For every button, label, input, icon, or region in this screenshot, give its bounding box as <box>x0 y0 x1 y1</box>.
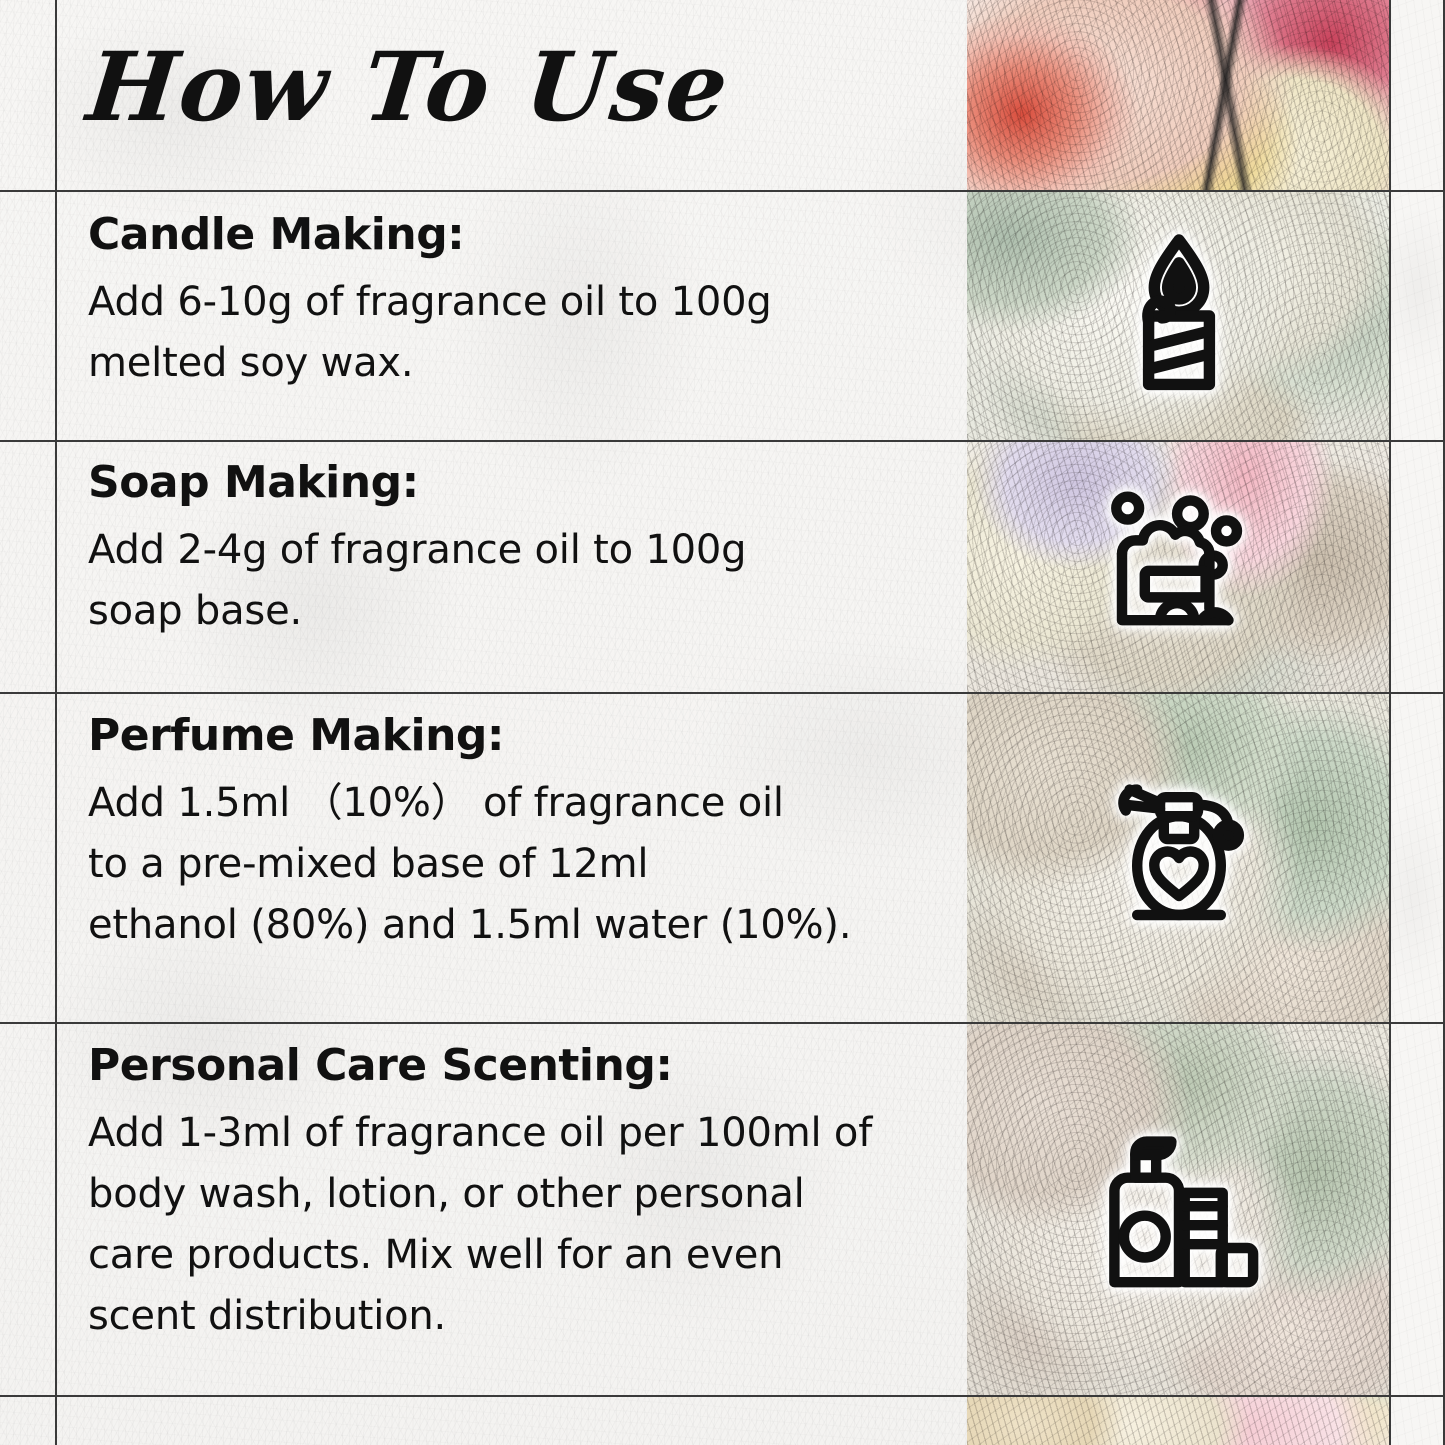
page-title: How To Use <box>83 40 734 135</box>
photo-personal-care-bg <box>967 1024 1390 1395</box>
header-photo-roses-quill <box>967 0 1390 190</box>
section-heading: Personal Care Scenting: <box>88 1043 965 1089</box>
row-divider-5 <box>0 1395 1445 1397</box>
row-divider-1 <box>0 190 1445 192</box>
section-body: Add 6-10g of fragrance oil to 100g melte… <box>88 272 965 394</box>
photo-magnolia-sage <box>967 192 1390 440</box>
section-candle-making: Candle Making: Add 6-10g of fragrance oi… <box>57 212 965 394</box>
perfume-bottle-icon <box>1084 763 1274 953</box>
photo-column-rule <box>1389 0 1391 1445</box>
footer-photo-books-peony <box>967 1397 1390 1445</box>
soap-bar-icon <box>1084 472 1274 662</box>
row-divider-3 <box>0 692 1445 694</box>
row-divider-2 <box>0 440 1445 442</box>
section-body: Add 2-4g of fragrance oil to 100g soap b… <box>88 520 965 642</box>
candle-icon <box>1084 221 1274 411</box>
section-body: Add 1.5ml （10%） of fragrance oil to a pr… <box>88 773 965 955</box>
section-heading: Candle Making: <box>88 212 965 258</box>
right-edge-paper-strip <box>1390 0 1445 1445</box>
section-body: Add 1-3ml of fragrance oil per 100ml of … <box>88 1103 965 1346</box>
row-divider-4 <box>0 1022 1445 1024</box>
section-perfume-making: Perfume Making: Add 1.5ml （10%） of fragr… <box>57 713 965 956</box>
section-heading: Perfume Making: <box>88 713 965 759</box>
section-soap-making: Soap Making: Add 2-4g of fragrance oil t… <box>57 460 965 642</box>
personal-care-products-icon <box>1084 1115 1274 1305</box>
section-personal-care-scenting: Personal Care Scenting: Add 1-3ml of fra… <box>57 1043 965 1346</box>
how-to-use-infographic: How To Use Candle Making: Add 6-10g of f… <box>0 0 1445 1445</box>
photo-berry-blossom <box>967 442 1390 692</box>
photo-pale-bloom <box>967 694 1390 1022</box>
section-heading: Soap Making: <box>88 460 965 506</box>
photo-column <box>967 0 1390 1445</box>
